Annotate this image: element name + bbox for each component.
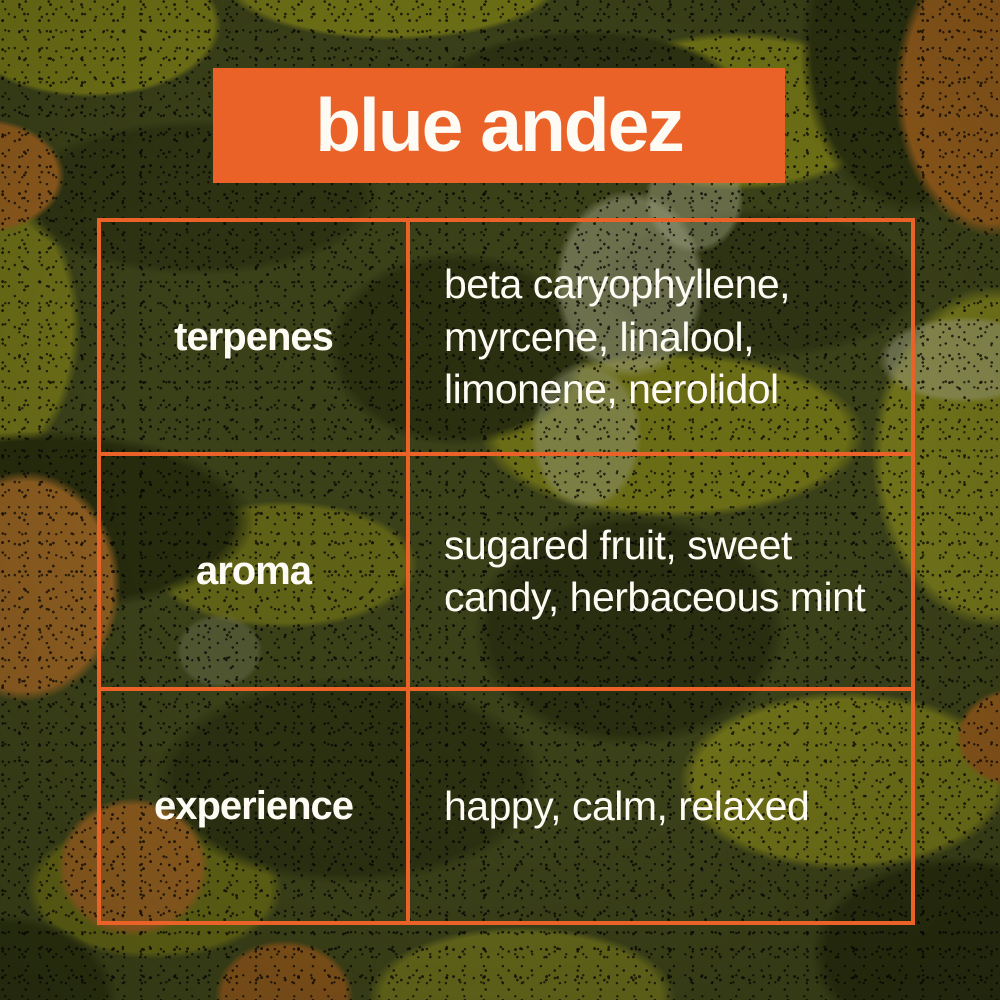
spec-label-aroma: aroma (196, 550, 311, 592)
spec-value-experience: happy, calm, relaxed (444, 780, 809, 832)
product-title: blue andez (315, 88, 683, 163)
spec-label-cell-aroma: aroma (101, 456, 410, 686)
product-title-banner: blue andez (213, 68, 785, 183)
spec-value-cell-aroma: sugared fruit, sweet candy, herbaceous m… (410, 456, 911, 686)
spec-label-terpenes: terpenes (174, 316, 333, 358)
spec-table: terpenes beta caryophyllene, myrcene, li… (97, 218, 915, 925)
table-row: experience happy, calm, relaxed (101, 691, 911, 921)
spec-value-terpenes: beta caryophyllene, myrcene, linalool, l… (444, 258, 885, 415)
spec-label-experience: experience (154, 785, 353, 827)
spec-value-aroma: sugared fruit, sweet candy, herbaceous m… (444, 519, 885, 624)
table-row: terpenes beta caryophyllene, myrcene, li… (101, 222, 911, 456)
spec-value-cell-experience: happy, calm, relaxed (410, 691, 911, 921)
table-row: aroma sugared fruit, sweet candy, herbac… (101, 456, 911, 690)
spec-value-cell-terpenes: beta caryophyllene, myrcene, linalool, l… (410, 222, 911, 452)
spec-label-cell-experience: experience (101, 691, 410, 921)
spec-label-cell-terpenes: terpenes (101, 222, 410, 452)
product-spec-card: blue andez terpenes beta caryophyllene, … (0, 0, 1000, 1000)
